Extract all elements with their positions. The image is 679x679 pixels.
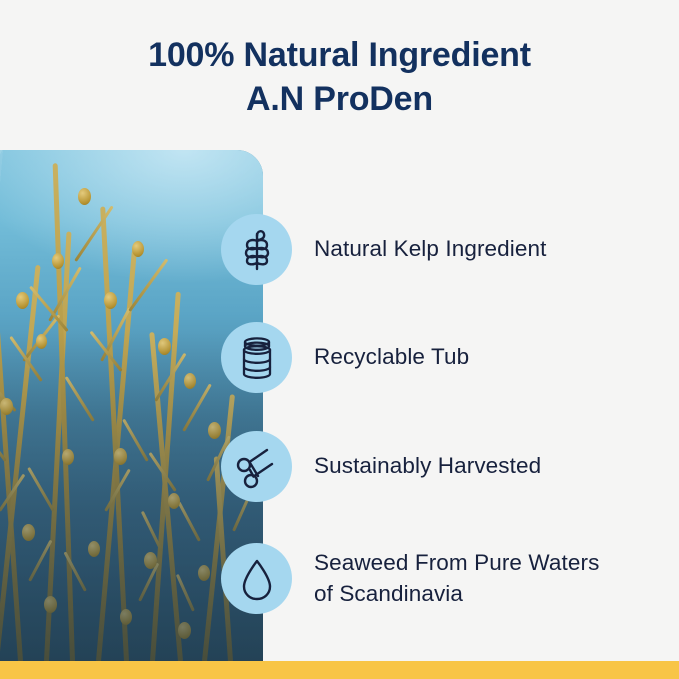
scissors-icon xyxy=(221,431,292,502)
list-item: Recyclable Tub xyxy=(221,322,469,393)
list-item-label: Natural Kelp Ingredient xyxy=(314,234,546,264)
list-item: Seaweed From Pure Waters of Scandinavia xyxy=(221,543,599,614)
bottom-accent-bar xyxy=(0,661,679,679)
list-item: Sustainably Harvested xyxy=(221,431,541,502)
product-infographic: 100% Natural Ingredient A.N ProDen xyxy=(0,0,679,679)
kelp-leaf-icon xyxy=(221,214,292,285)
list-item-label: Recyclable Tub xyxy=(314,342,469,372)
tub-jar-icon xyxy=(221,322,292,393)
water-drop-icon xyxy=(221,543,292,614)
list-item-label: Sustainably Harvested xyxy=(314,451,541,481)
list-item: Natural Kelp Ingredient xyxy=(221,214,546,285)
list-item-label: Seaweed From Pure Waters of Scandinavia xyxy=(314,548,599,609)
feature-list: Natural Kelp Ingredient Recyclable Tub xyxy=(0,0,679,679)
